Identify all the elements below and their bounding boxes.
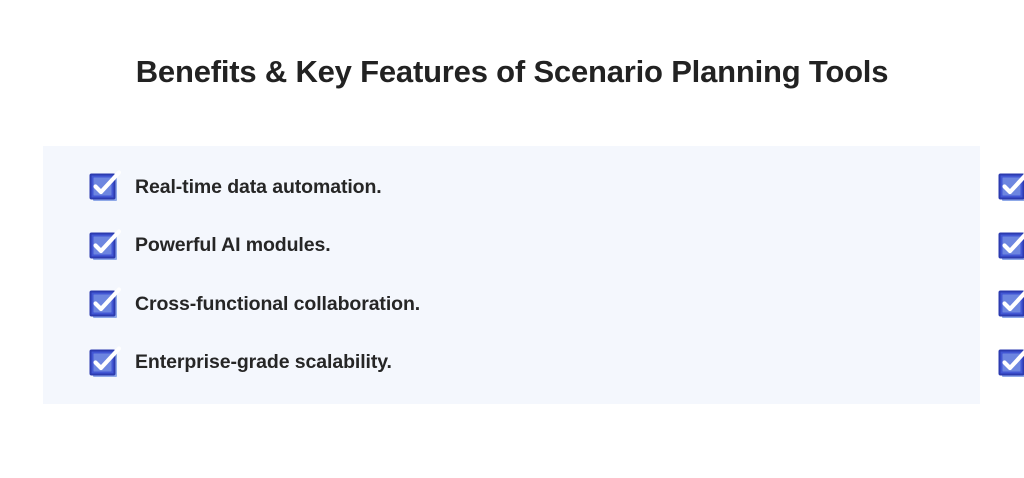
features-panel: Real-time data automation. Dynamic dashb… — [43, 146, 980, 404]
checked-checkbox-icon — [998, 289, 1024, 319]
checked-checkbox-icon — [89, 348, 119, 378]
feature-label: Real-time data automation. — [135, 176, 382, 199]
feature-label: Enterprise-grade scalability. — [135, 351, 392, 374]
feature-item[interactable]: Visual reporting. — [525, 348, 998, 378]
feature-item[interactable]: Powerful AI modules. — [43, 231, 525, 261]
checked-checkbox-icon — [998, 231, 1024, 261]
checked-checkbox-icon — [89, 172, 119, 202]
feature-item[interactable]: Dynamic dashboards. — [525, 172, 998, 202]
checked-checkbox-icon — [998, 348, 1024, 378]
feature-item[interactable]: Real-time data automation. — [43, 172, 525, 202]
checked-checkbox-icon — [89, 289, 119, 319]
feature-label: Cross-functional collaboration. — [135, 293, 420, 316]
feature-item[interactable]: Strategic placement of resources. — [525, 289, 998, 319]
feature-item[interactable]: Enterprise-grade scalability. — [43, 348, 525, 378]
features-grid: Real-time data automation. Dynamic dashb… — [43, 146, 980, 404]
feature-item[interactable]: Dynamic what-if analysis. — [525, 231, 998, 261]
page-title: Benefits & Key Features of Scenario Plan… — [0, 54, 1024, 90]
checked-checkbox-icon — [998, 172, 1024, 202]
feature-label: Powerful AI modules. — [135, 234, 331, 257]
feature-item[interactable]: Cross-functional collaboration. — [43, 289, 525, 319]
checked-checkbox-icon — [89, 231, 119, 261]
slide-canvas: Benefits & Key Features of Scenario Plan… — [0, 0, 1024, 478]
